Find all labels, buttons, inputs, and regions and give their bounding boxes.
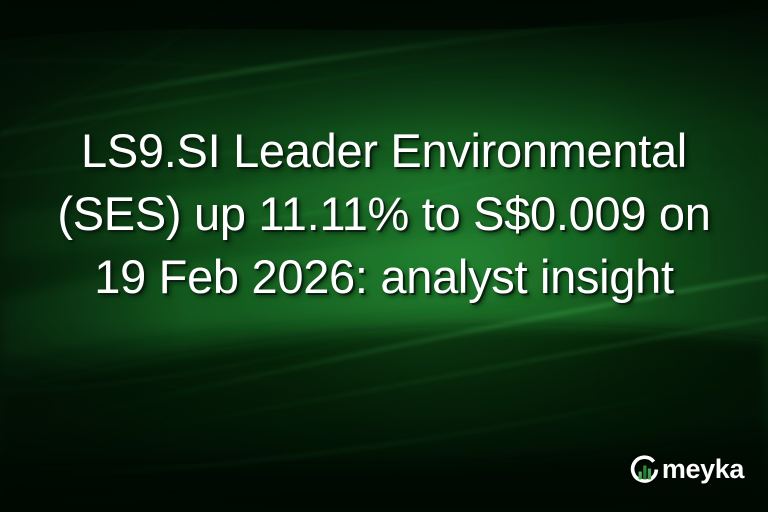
share-card: LS9.SI Leader Environmental (SES) up 11.…	[0, 0, 768, 512]
circle-bar-chart-icon	[628, 453, 661, 486]
logo-bar-2	[643, 466, 646, 480]
logo-bar-3	[648, 469, 651, 480]
logo-bar-1	[638, 471, 641, 479]
logo-wordmark: meyka	[662, 456, 744, 483]
meyka-logo[interactable]: meyka	[628, 453, 744, 486]
headline-text: LS9.SI Leader Environmental (SES) up 11.…	[0, 119, 768, 308]
